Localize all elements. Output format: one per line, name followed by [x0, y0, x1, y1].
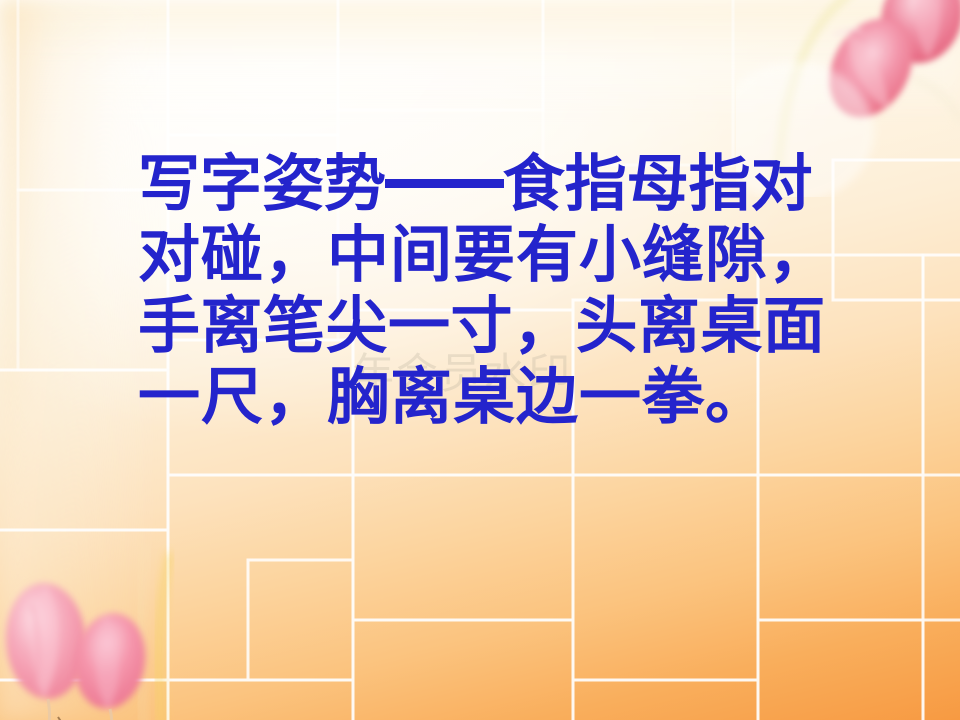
tulip-buds-bottom-left — [0, 543, 228, 720]
background-wash-top — [0, 0, 960, 120]
body-line-3: 手离笔尖一寸，头离桌面 — [138, 292, 868, 363]
background-wash-left — [0, 0, 150, 720]
body-line-1-suffix: 食指母指对 — [503, 151, 813, 219]
body-line-2: 对碰，中间要有小缝隙， — [138, 221, 868, 292]
body-line-1: 写字姿势食指母指对 — [138, 150, 868, 221]
body-line-1-prefix: 写字姿势 — [138, 151, 386, 219]
slide-body-text: 写字姿势食指母指对 对碰，中间要有小缝隙， 手离笔尖一寸，头离桌面 一尺，胸离桌… — [138, 150, 868, 434]
em-dash-separator — [385, 179, 504, 187]
presentation-slide: 年会员水印 写字姿势食指母指对 对碰，中间要有小缝隙， 手离笔尖一寸，头离桌面 … — [0, 0, 960, 720]
body-line-4: 一尺，胸离桌边一拳。 — [138, 363, 868, 434]
